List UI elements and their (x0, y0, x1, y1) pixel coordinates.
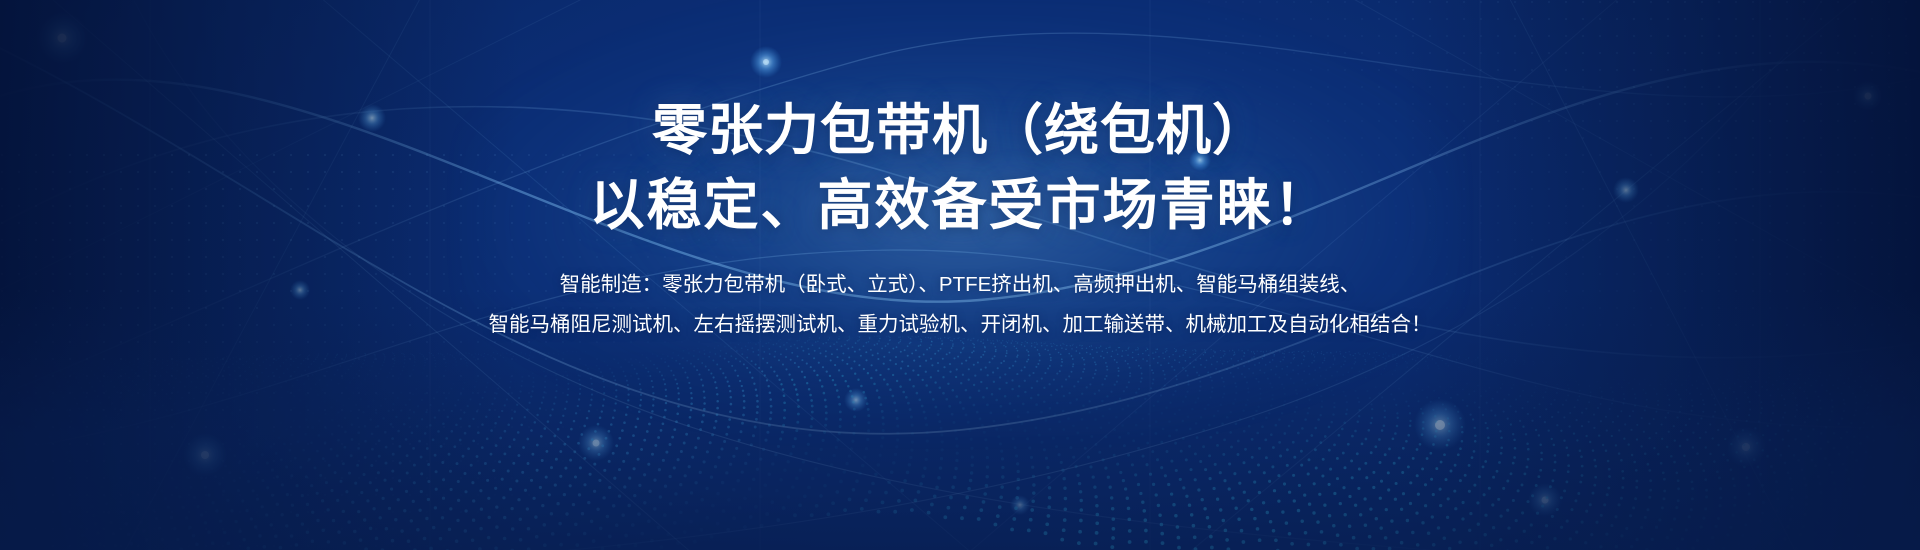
hero-banner: 零张力包带机（绕包机） 以稳定、高效备受市场青睐！ 智能制造：零张力包带机（卧式… (0, 0, 1920, 550)
headline-line-2: 以稳定、高效备受市场青睐！ (589, 171, 1330, 240)
subtitle-line-2: 智能马桶阻尼测试机、左右摇摆测试机、重力试验机、开闭机、加工输送带、机械加工及自… (489, 305, 1432, 345)
headline-line-1: 零张力包带机（绕包机） (652, 96, 1268, 165)
subtitle-block: 智能制造：零张力包带机（卧式、立式）、PTFE挤出机、高频押出机、智能马桶组装线… (489, 265, 1432, 345)
subtitle-line-1: 智能制造：零张力包带机（卧式、立式）、PTFE挤出机、高频押出机、智能马桶组装线… (489, 265, 1432, 305)
